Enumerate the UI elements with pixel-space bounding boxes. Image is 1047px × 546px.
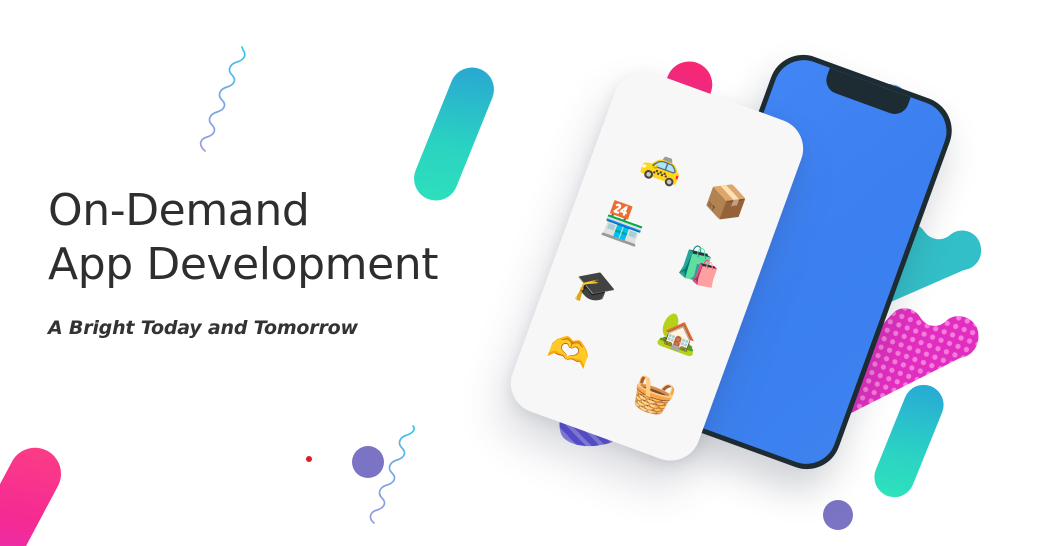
hero-banner: On-Demand App Development A Bright Today… — [0, 0, 1047, 546]
page-title: On-Demand App Development — [48, 184, 568, 291]
phone-notch — [822, 68, 910, 118]
page-subtitle: A Bright Today and Tomorrow — [48, 317, 568, 339]
squiggle-line-bottom — [366, 424, 442, 528]
taxi-icon[interactable]: 🚕 — [637, 141, 688, 187]
graduation-cap-icon[interactable]: 🎓 — [569, 265, 620, 311]
washing-machine-icon[interactable]: 🧺 — [628, 373, 679, 419]
house-icon[interactable]: 🏡 — [655, 311, 706, 357]
pink-capsule-bottom — [0, 439, 70, 546]
groceries-icon[interactable]: 🛍️ — [675, 244, 726, 290]
hero-copy: On-Demand App Development A Bright Today… — [48, 184, 568, 339]
red-dot — [306, 456, 312, 462]
heart-hands-icon[interactable]: 🫶 — [543, 329, 594, 375]
package-icon[interactable]: 📦 — [700, 179, 751, 225]
phone-illustration: 🚕 📦 🏪 🛍️ 🎓 🏡 🫶 🧺 — [540, 40, 1040, 510]
squiggle-line-top-left — [196, 44, 276, 156]
storefront-icon[interactable]: 🏪 — [598, 201, 649, 247]
